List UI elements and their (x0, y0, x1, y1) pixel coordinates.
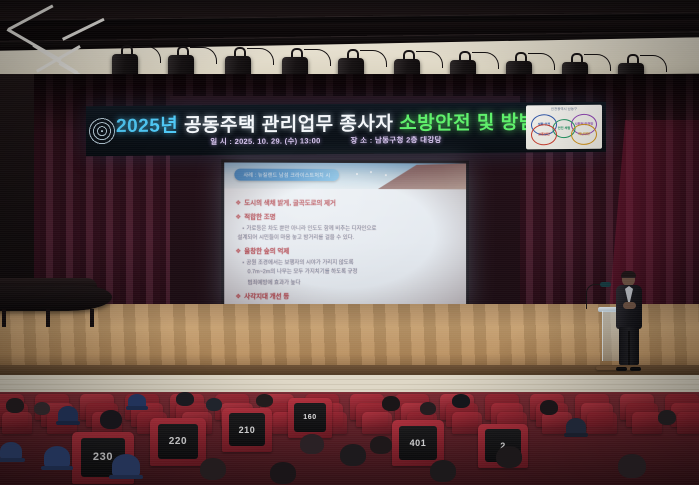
attendee-head (176, 392, 194, 406)
seat-number: 230 (93, 451, 113, 463)
slide-heading: ❖사각지대 개선 등 (235, 291, 455, 301)
seat-back: 210 (229, 413, 265, 446)
seat-numbered: 160 (288, 398, 332, 438)
seat (677, 412, 699, 434)
seat-back: 160 (294, 403, 326, 433)
attendee-cap (566, 418, 586, 435)
seat-number: 210 (239, 425, 256, 435)
seat-number: 220 (169, 436, 188, 447)
audience-seating: 2302202101604012 (0, 392, 699, 485)
seat (587, 412, 617, 434)
attendee-head (496, 446, 522, 468)
banner-place: 장 소 : 남동구청 2층 대강당 (351, 134, 442, 146)
grand-piano (0, 285, 114, 325)
projection-screen-frame: 사례 : 뉴질랜드 남섬 크라이스트처치 시 ❖도시의 색채 밝게, 굴곡도로의… (221, 159, 469, 310)
attendee-head (420, 402, 436, 415)
attendee-head (382, 396, 400, 411)
slide-subline: 범죄예방에 효과가 높다 (235, 278, 455, 287)
attendee-cap (0, 442, 22, 460)
attendee-head (658, 410, 676, 425)
projection-screen: 사례 : 뉴질랜드 남섬 크라이스트처치 시 ❖도시의 색채 밝게, 굴곡도로의… (224, 162, 466, 307)
seat-numbered: 210 (222, 408, 272, 452)
seat (362, 412, 392, 434)
microphone-icon (600, 282, 611, 287)
fingerprint-logo-icon (88, 114, 116, 148)
presenter (614, 272, 644, 368)
seat-numbered: 220 (150, 418, 206, 466)
slide-title-bar: 사례 : 뉴질랜드 남섬 크라이스트처치 시 (234, 169, 339, 181)
slide-subline: ▪가로등은 차도 뿐만 아니라 인도도 함께 비추는 디자인으로 (235, 224, 455, 232)
logo-rings: 생활 안전 사회적 안전망 안전 체험 교통안전 재난안전 (528, 112, 600, 146)
attendee-head (300, 434, 324, 454)
seat-back: 220 (158, 424, 198, 460)
attendee-head (34, 402, 50, 415)
attendee-cap (58, 406, 78, 423)
seat-number: 401 (410, 438, 427, 448)
seat (2, 412, 32, 434)
banner-datetime: 일 시 : 2025. 10. 29. (수) 13:00 (210, 135, 320, 147)
event-banner: 2025년 공동주택 관리업무 종사자 소방안전 및 방범교육 일 시 : 20… (86, 102, 606, 157)
slide-subline: 0.7m~2m의 나무는 모두 가지치기를 하도록 규정 (235, 267, 455, 275)
attendee-head (540, 400, 558, 415)
logo-ring-5: 재난안전 (571, 124, 597, 145)
attendee-cap (112, 454, 140, 477)
attendee-head (370, 436, 392, 454)
attendee-head (452, 394, 470, 408)
banner-title-main: 공동주택 관리업무 종사자 (184, 114, 393, 137)
attendee-head (100, 410, 122, 429)
seat-back: 401 (399, 426, 436, 460)
attendee-head (200, 458, 226, 480)
slide-subline: 설계되어 시민들이 마음 놓고 밤거리를 걸을 수 있다. (235, 233, 455, 241)
seat-number: 160 (303, 414, 316, 421)
banner-subtitle: 일 시 : 2025. 10. 29. (수) 13:00 장 소 : 남동구청… (116, 133, 536, 148)
slide-heading: ❖울창한 숲의 억제 (235, 246, 455, 255)
attendee-head (256, 394, 273, 407)
attendee-head (340, 444, 366, 466)
attendee-cap (128, 394, 146, 408)
attendee-head (270, 462, 296, 484)
side-wall-left (0, 74, 34, 304)
banner-title-year: 2025년 (116, 115, 178, 137)
district-safety-logo: 인천광역시 남동구 생활 안전 사회적 안전망 안전 체험 교통안전 재난안전 (526, 105, 602, 150)
auditorium-photo: 2025년 공동주택 관리업무 종사자 소방안전 및 방범교육 일 시 : 20… (0, 0, 699, 485)
microphone-stem (586, 284, 607, 309)
attendee-cap (44, 446, 70, 468)
slide-heading: ❖적합한 조명 (235, 212, 455, 221)
attendee-head (206, 398, 222, 411)
slide-body: ❖도시의 색채 밝게, 굴곡도로의 제거❖적합한 조명▪가로등은 차도 뿐만 아… (224, 191, 466, 308)
logo-ring-4: 교통안전 (531, 124, 557, 145)
slide-subline: ▪공원 조경에서는 보행자의 시야가 가리지 않도록 (235, 258, 455, 266)
seat-numbered: 401 (392, 420, 444, 466)
attendee-head (430, 460, 456, 482)
attendee-head (618, 454, 646, 478)
slide-heading: ❖도시의 색채 밝게, 굴곡도로의 제거 (235, 198, 455, 207)
attendee-head (6, 398, 24, 413)
